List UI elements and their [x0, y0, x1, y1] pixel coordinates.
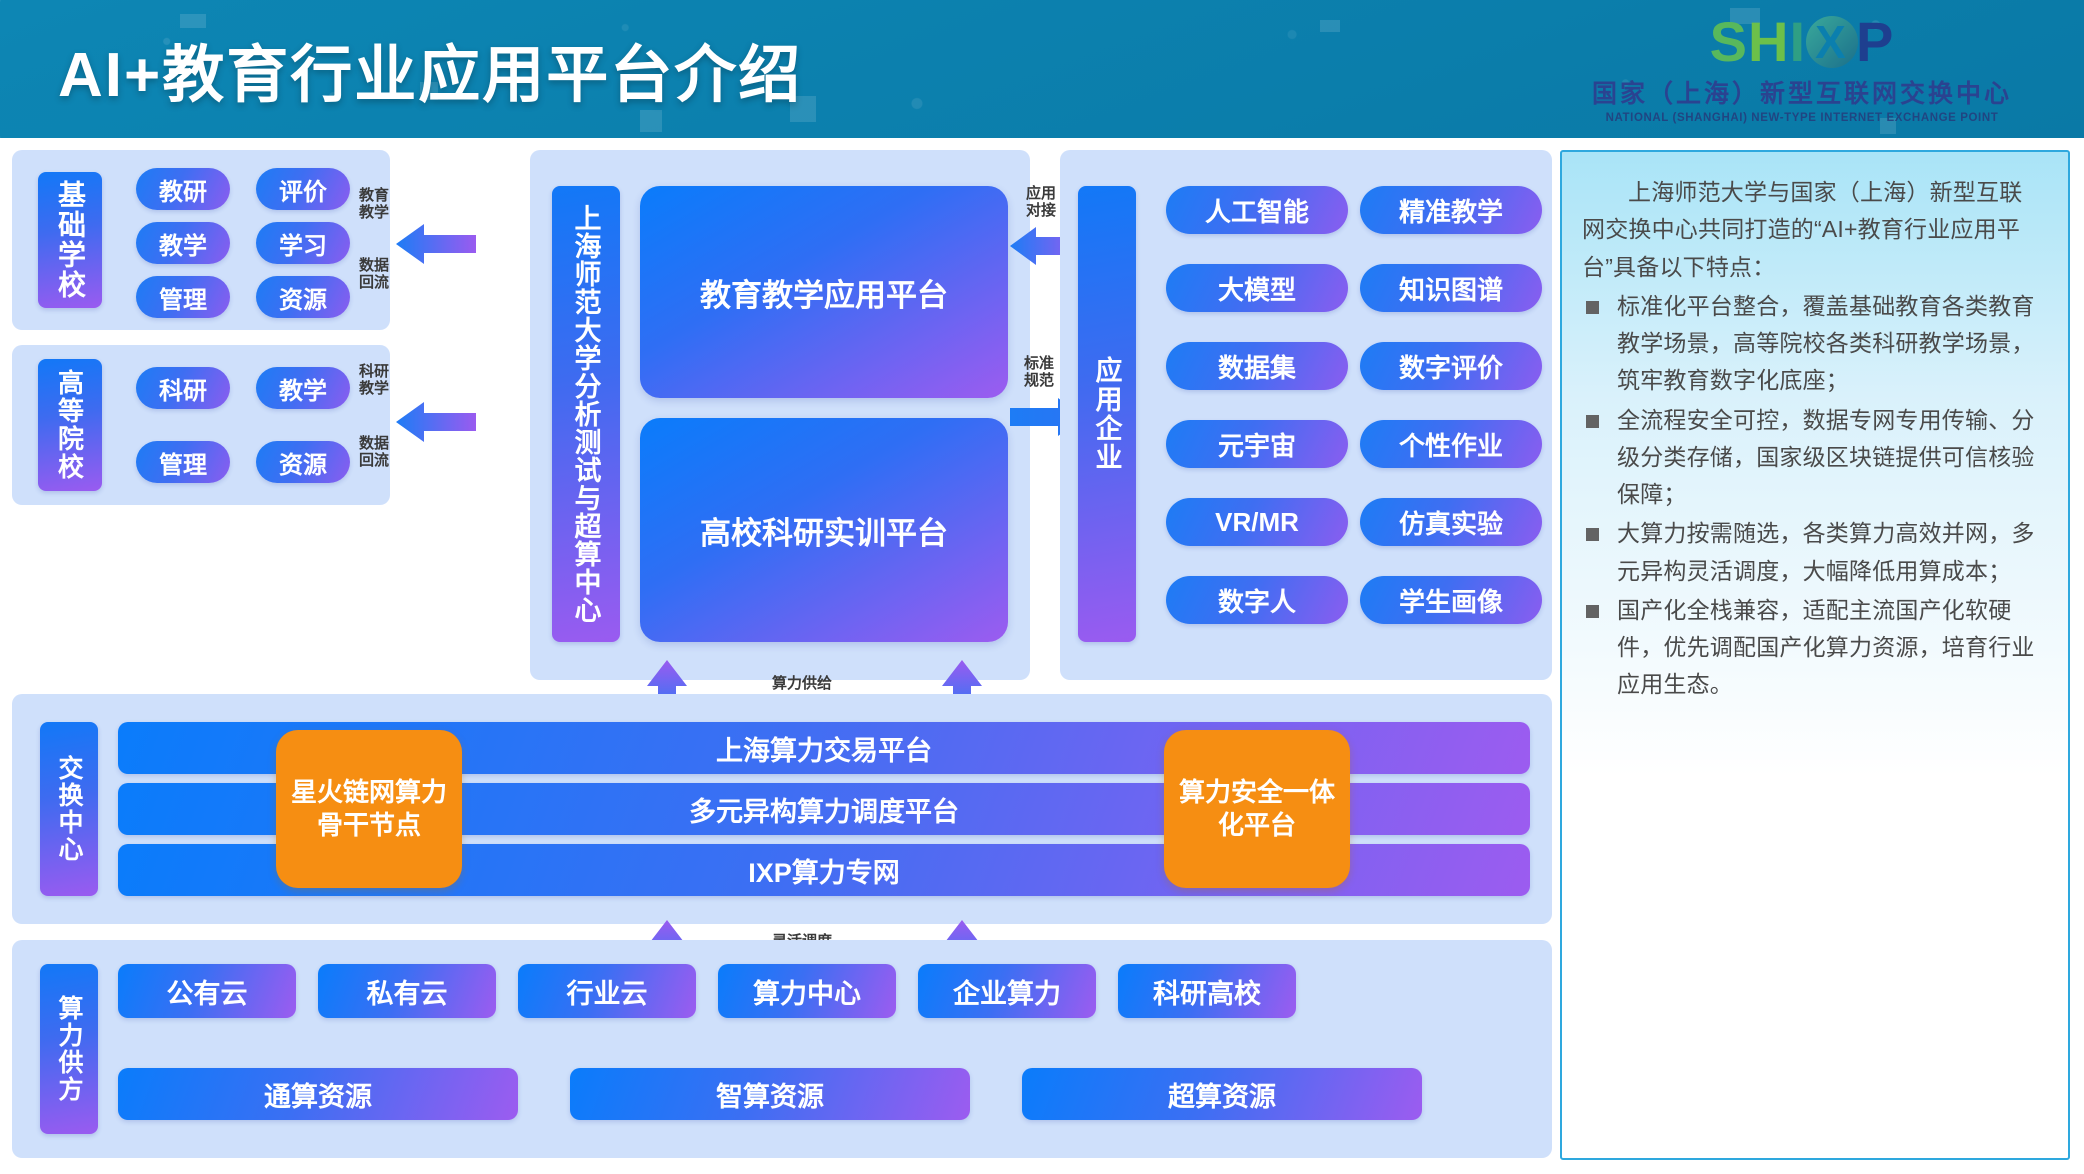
exchange-center-panel: 交换中心 上海算力交易平台 多元异构算力调度平台 IXP算力专网 星火链网算力骨…	[12, 694, 1552, 924]
page-title: AI+教育行业应用平台介绍	[58, 24, 802, 114]
tag-large-model[interactable]: 大模型	[1166, 264, 1348, 312]
tag-digital-human[interactable]: 数字人	[1166, 576, 1348, 624]
tag-student-profile[interactable]: 学生画像	[1360, 576, 1542, 624]
supplier-enterprise-compute[interactable]: 企业算力	[918, 964, 1096, 1018]
compute-supplier-panel: 算力供方 公有云 私有云 行业云 算力中心 企业算力 科研高校 通算资源 智算资…	[12, 940, 1552, 1158]
bullet-square-icon	[1586, 415, 1599, 428]
page-header: AI+教育行业应用平台介绍 S H I X P 国家（上海）新型互联网交换中心 …	[0, 0, 2084, 138]
tag-ai[interactable]: 人工智能	[1166, 186, 1348, 234]
sunu-center-label: 上海师范大学分析测试与超算中心	[552, 186, 620, 642]
list-item: 国产化全栈兼容，适配主流国产化软硬件，优先调配国产化算力资源，培育行业应用生态。	[1582, 592, 2042, 704]
tag-precision-teaching[interactable]: 精准教学	[1360, 186, 1542, 234]
list-item: 全流程安全可控，数据专网专用传输、分级分类存储，国家级区块链提供可信核验保障；	[1582, 402, 2042, 514]
bullet-square-icon	[1586, 528, 1599, 541]
bullet-square-icon	[1586, 605, 1599, 618]
logo-letter-x: X	[1802, 14, 1860, 70]
arrow-label-compute-supply: 算力供给	[772, 676, 832, 693]
bullet-text: 标准化平台整合，覆盖基础教育各类教育教学场景，高等院校各类科研教学场景，筑牢教育…	[1617, 288, 2042, 400]
platform-research[interactable]: 高校科研实训平台	[640, 418, 1008, 642]
supplier-industry-cloud[interactable]: 行业云	[518, 964, 696, 1018]
center-platform-panel: 上海师范大学分析测试与超算中心 教育教学应用平台 高校科研实训平台	[530, 150, 1030, 680]
orange-box-spark-chain-node[interactable]: 星火链网算力骨干节点	[276, 730, 462, 888]
logo-letter-s: S	[1710, 14, 1748, 70]
basic-school-label: 基础学校	[38, 172, 102, 308]
tag-simulation-experiment[interactable]: 仿真实验	[1360, 498, 1542, 546]
basic-school-panel: 基础学校 教研 教学 管理 评价 学习 资源	[12, 150, 390, 330]
bullet-text: 全流程安全可控，数据专网专用传输、分级分类存储，国家级区块链提供可信核验保障；	[1617, 402, 2042, 514]
logo-letter-h: H	[1748, 14, 1789, 70]
shixp-logo: S H I X P 国家（上海）新型互联网交换中心 NATIONAL (SHAN…	[1592, 14, 2012, 124]
tag-vrmr[interactable]: VR/MR	[1166, 498, 1348, 546]
tag-knowledge-graph[interactable]: 知识图谱	[1360, 264, 1542, 312]
tag-keyan[interactable]: 科研	[136, 367, 230, 409]
tag-xuexi[interactable]: 学习	[256, 222, 350, 264]
logo-chinese-name: 国家（上海）新型互联网交换中心	[1592, 74, 2012, 110]
tag-jiaoyan[interactable]: 教研	[136, 168, 230, 210]
arrow-label-data-return-1: 数据 回流	[352, 258, 396, 291]
higher-education-label: 高等院校	[38, 359, 102, 491]
supplier-compute-center[interactable]: 算力中心	[718, 964, 896, 1018]
logo-wordmark: S H I X P	[1592, 14, 2012, 70]
arrow-label-education: 教育 教学	[352, 188, 396, 221]
arrow-label-research: 科研 教学	[352, 364, 396, 397]
tag-guanli-2[interactable]: 管理	[136, 441, 230, 483]
higher-education-panel: 高等院校 科研 管理 教学 资源	[12, 345, 390, 505]
supplier-research-university[interactable]: 科研高校	[1118, 964, 1296, 1018]
supplier-private-cloud[interactable]: 私有云	[318, 964, 496, 1018]
tag-ziyuan-2[interactable]: 资源	[256, 441, 350, 483]
tag-metaverse[interactable]: 元宇宙	[1166, 420, 1348, 468]
bullet-square-icon	[1586, 301, 1599, 314]
enterprise-label: 应用企业	[1078, 186, 1136, 642]
description-panel: 上海师范大学与国家（上海）新型互联网交换中心共同打造的“AI+教育行业应用平台”…	[1560, 150, 2070, 1160]
platform-education[interactable]: 教育教学应用平台	[640, 186, 1008, 398]
enterprise-panel: 应用企业 人工智能 大模型 数据集 元宇宙 VR/MR 数字人 精准教学 知识图…	[1060, 150, 1552, 680]
orange-box-compute-security[interactable]: 算力安全一体化平台	[1164, 730, 1350, 888]
resource-intelligent-compute[interactable]: 智算资源	[570, 1068, 970, 1120]
bullet-text: 大算力按需随选，各类算力高效并网，多元异构灵活调度，大幅降低用算成本；	[1617, 515, 2042, 590]
arrow-education-left	[396, 222, 476, 266]
logo-english-name: NATIONAL (SHANGHAI) NEW-TYPE INTERNET EX…	[1592, 112, 2012, 124]
tag-personalized-homework[interactable]: 个性作业	[1360, 420, 1542, 468]
arrow-label-standard: 标准 规范	[1016, 356, 1062, 389]
intro-paragraph: 上海师范大学与国家（上海）新型互联网交换中心共同打造的“AI+教育行业应用平台”…	[1582, 174, 2042, 286]
tag-digital-evaluation[interactable]: 数字评价	[1360, 342, 1542, 390]
tag-jiaoxue[interactable]: 教学	[136, 222, 230, 264]
arrow-label-data-return-2: 数据 回流	[352, 436, 396, 469]
resource-general-compute[interactable]: 通算资源	[118, 1068, 518, 1120]
supplier-public-cloud[interactable]: 公有云	[118, 964, 296, 1018]
feature-bullet-list: 标准化平台整合，覆盖基础教育各类教育教学场景，高等院校各类科研教学场景，筑牢教育…	[1582, 288, 2042, 704]
list-item: 标准化平台整合，覆盖基础教育各类教育教学场景，高等院校各类科研教学场景，筑牢教育…	[1582, 288, 2042, 400]
compute-supplier-label: 算力供方	[40, 964, 98, 1134]
tag-pingjia[interactable]: 评价	[256, 168, 350, 210]
resource-super-compute[interactable]: 超算资源	[1022, 1068, 1422, 1120]
tag-dataset[interactable]: 数据集	[1166, 342, 1348, 390]
tag-ziyuan[interactable]: 资源	[256, 276, 350, 318]
list-item: 大算力按需随选，各类算力高效并网，多元异构灵活调度，大幅降低用算成本；	[1582, 515, 2042, 590]
exchange-center-label: 交换中心	[40, 722, 98, 896]
tag-guanli[interactable]: 管理	[136, 276, 230, 318]
tag-jiaoxue-2[interactable]: 教学	[256, 367, 350, 409]
arrow-research-left	[396, 400, 476, 444]
arrow-label-app-dock: 应用 对接	[1018, 186, 1064, 219]
logo-letter-p: P	[1856, 14, 1894, 70]
logo-x-icon: X	[1802, 14, 1860, 70]
bullet-text: 国产化全栈兼容，适配主流国产化软硬件，优先调配国产化算力资源，培育行业应用生态。	[1617, 592, 2042, 704]
